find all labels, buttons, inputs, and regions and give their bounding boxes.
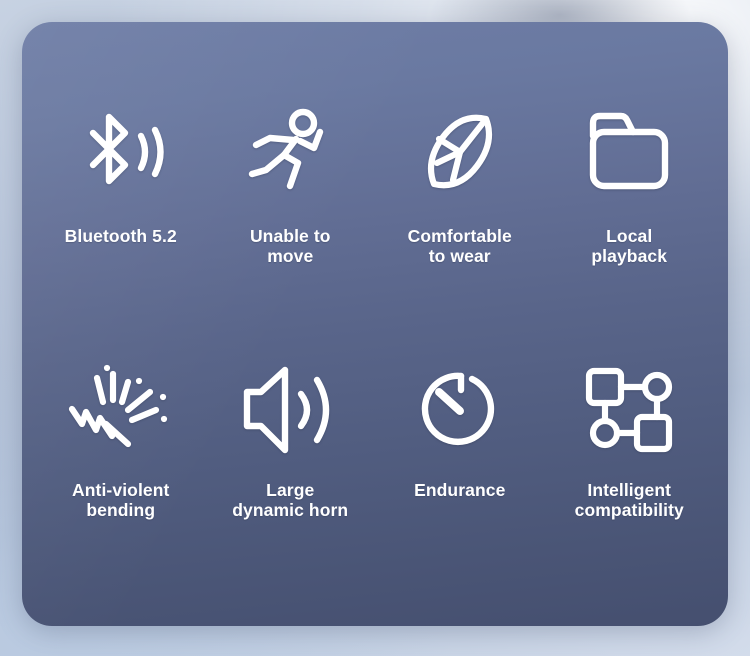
feature-label: Local playback (591, 226, 667, 267)
feature-label: Intelligent compatibility (575, 480, 684, 521)
bluetooth-icon (73, 96, 169, 208)
feature-card: Bluetooth 5.2 (22, 22, 728, 626)
feature-label: Unable to move (250, 226, 331, 267)
feature-item-intelligent-compatibility: Intelligent compatibility (545, 326, 715, 618)
feature-label: Anti-violent bending (72, 480, 169, 521)
feature-item-anti-violent-bending: Anti-violent bending (36, 326, 206, 618)
feature-label: Comfortable to wear (408, 226, 512, 267)
feature-item-unable-to-move: Unable to move (206, 34, 376, 326)
product-feature-banner: Bluetooth 5.2 (0, 0, 750, 656)
feature-item-comfortable-to-wear: Comfortable to wear (375, 34, 545, 326)
stopwatch-timer-icon (417, 354, 503, 466)
feature-item-local-playback: Local playback (545, 34, 715, 326)
feature-label: Large dynamic horn (232, 480, 348, 521)
speaker-volume-icon (241, 354, 339, 466)
feature-item-endurance: Endurance (375, 326, 545, 618)
feature-grid: Bluetooth 5.2 (22, 22, 728, 626)
folder-icon (585, 96, 673, 208)
impact-burst-icon (66, 354, 176, 466)
feature-label: Endurance (414, 480, 505, 500)
feature-label: Bluetooth 5.2 (65, 226, 177, 246)
network-nodes-icon (583, 354, 675, 466)
feature-item-large-dynamic-horn: Large dynamic horn (206, 326, 376, 618)
feature-item-bluetooth: Bluetooth 5.2 (36, 34, 206, 326)
leaf-icon (417, 96, 503, 208)
running-person-icon (244, 96, 336, 208)
